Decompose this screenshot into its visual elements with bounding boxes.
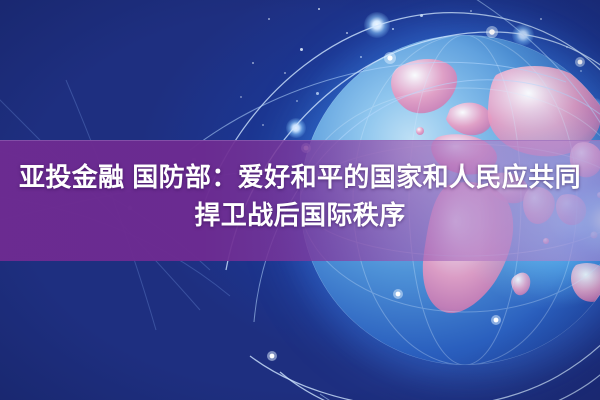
news-banner-image: 亚投金融 国防部：爱好和平的国家和人民应共同 捍卫战后国际秩序 xyxy=(0,0,600,400)
band-top-edge xyxy=(0,140,600,141)
headline-line-2: 捍卫战后国际秩序 xyxy=(0,196,600,234)
headline-line-1: 亚投金融 国防部：爱好和平的国家和人民应共同 xyxy=(0,158,600,196)
headline: 亚投金融 国防部：爱好和平的国家和人民应共同 捍卫战后国际秩序 xyxy=(0,158,600,234)
